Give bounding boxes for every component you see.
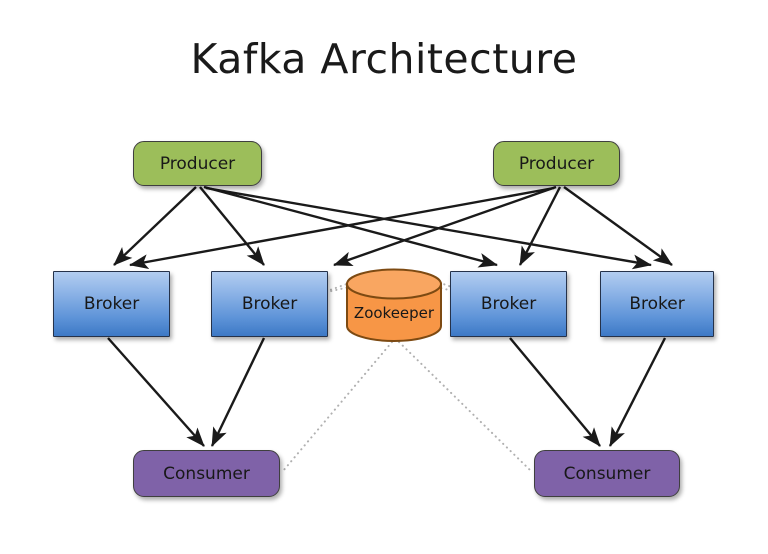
node-broker-4[interactable]: Broker bbox=[600, 271, 714, 337]
producer-1-label: Producer bbox=[134, 154, 261, 174]
edge-zookeeper-consumer1 bbox=[283, 342, 392, 471]
edge-producer1-broker2 bbox=[200, 187, 264, 265]
node-broker-2[interactable]: Broker bbox=[211, 271, 328, 337]
node-producer-2[interactable]: Producer bbox=[493, 141, 620, 186]
producer-to-broker-edges bbox=[114, 187, 672, 265]
cylinder-top bbox=[347, 270, 441, 299]
edge-producer1-broker1 bbox=[114, 187, 196, 265]
node-zookeeper[interactable]: Zookeeper bbox=[345, 268, 443, 342]
node-consumer-2[interactable]: Consumer bbox=[534, 450, 680, 497]
edge-broker3-consumer2 bbox=[510, 338, 600, 446]
node-broker-1[interactable]: Broker bbox=[53, 271, 170, 337]
edge-producer2-broker2 bbox=[334, 187, 556, 265]
broker-1-label: Broker bbox=[54, 294, 169, 314]
cylinder-shape bbox=[345, 268, 443, 342]
broker-3-label: Broker bbox=[451, 294, 566, 314]
consumer-1-label: Consumer bbox=[134, 464, 279, 484]
edge-producer2-broker1 bbox=[130, 188, 554, 265]
edge-broker1-consumer1 bbox=[108, 338, 204, 446]
broker-4-label: Broker bbox=[601, 294, 713, 314]
edge-zookeeper-consumer2 bbox=[399, 342, 531, 471]
consumer-2-label: Consumer bbox=[535, 464, 679, 484]
edge-broker4-consumer2 bbox=[610, 338, 665, 446]
broker-to-consumer-edges bbox=[108, 338, 665, 446]
node-broker-3[interactable]: Broker bbox=[450, 271, 567, 337]
edge-broker2-consumer1 bbox=[212, 338, 264, 446]
edge-producer1-broker4 bbox=[206, 188, 651, 265]
diagram-canvas: Kafka Architecture bbox=[0, 0, 768, 554]
broker-2-label: Broker bbox=[212, 294, 327, 314]
producer-2-label: Producer bbox=[494, 154, 619, 174]
node-producer-1[interactable]: Producer bbox=[133, 141, 262, 186]
node-consumer-1[interactable]: Consumer bbox=[133, 450, 280, 497]
